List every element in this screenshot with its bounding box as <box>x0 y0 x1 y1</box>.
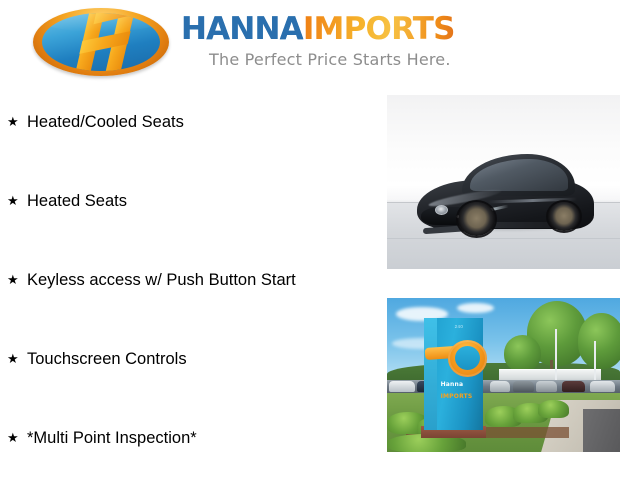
road <box>583 409 620 452</box>
star-icon: ★ <box>7 270 27 290</box>
parked-car <box>590 381 616 392</box>
parked-car <box>536 381 557 392</box>
feature-label: Heated/Cooled Seats <box>27 112 184 132</box>
wordmark-block: HANNAIMPORTS The Perfect Price Starts He… <box>181 8 455 69</box>
parked-car <box>562 381 585 392</box>
dealership-photo[interactable]: 240 Hanna IMPORTS <box>387 298 620 452</box>
brand-header: HANNAIMPORTS The Perfect Price Starts He… <box>0 0 640 90</box>
vehicle-feature-list: ★ Heated/Cooled Seats ★ Heated Seats ★ K… <box>0 98 380 493</box>
monument-sign-line1: Hanna <box>441 381 464 388</box>
list-item: ★ Keyless access w/ Push Button Start <box>0 256 380 335</box>
star-icon: ★ <box>7 191 27 211</box>
feature-label: *Multi Point Inspection* <box>27 428 197 448</box>
parked-cars-row <box>387 380 620 394</box>
feature-label: Keyless access w/ Push Button Start <box>27 270 296 290</box>
parked-car <box>490 381 511 392</box>
star-icon: ★ <box>7 428 27 448</box>
rear-wheel <box>548 202 580 231</box>
list-item: ★ Touchscreen Controls <box>0 335 380 414</box>
nissan-ariya-vehicle <box>417 154 594 234</box>
floor-seam-line <box>387 238 620 239</box>
monument-side-panel <box>424 318 437 430</box>
parked-car <box>389 381 415 392</box>
list-item: ★ Heated Seats <box>0 177 380 256</box>
wordmark-hanna: HANNA <box>181 11 303 47</box>
parked-car <box>513 381 534 392</box>
monument-sign-line2: IMPORTS <box>441 393 473 400</box>
emblem-inner-disc <box>42 13 160 71</box>
feature-label: Touchscreen Controls <box>27 349 187 369</box>
feature-label: Heated Seats <box>27 191 127 211</box>
wordmark-imports: IMPORTS <box>303 11 455 47</box>
tree <box>504 335 541 372</box>
list-item: ★ *Multi Point Inspection* <box>0 414 380 493</box>
nissan-badge-icon <box>435 205 448 215</box>
front-wheel <box>458 202 495 236</box>
star-icon: ★ <box>7 112 27 132</box>
hanna-imports-logo[interactable]: HANNAIMPORTS The Perfect Price Starts He… <box>33 8 455 76</box>
brand-wordmark: HANNAIMPORTS <box>181 14 455 45</box>
hedge <box>538 400 568 418</box>
star-icon: ★ <box>7 349 27 369</box>
hanna-h-oval-emblem-icon <box>33 8 169 76</box>
vehicle-photo[interactable] <box>387 95 620 269</box>
list-item: ★ Heated/Cooled Seats <box>0 98 380 177</box>
tree <box>578 313 620 368</box>
street-number: 240 <box>455 324 464 329</box>
emblem-h-flag <box>94 13 133 24</box>
brand-tagline: The Perfect Price Starts Here. <box>209 50 455 69</box>
